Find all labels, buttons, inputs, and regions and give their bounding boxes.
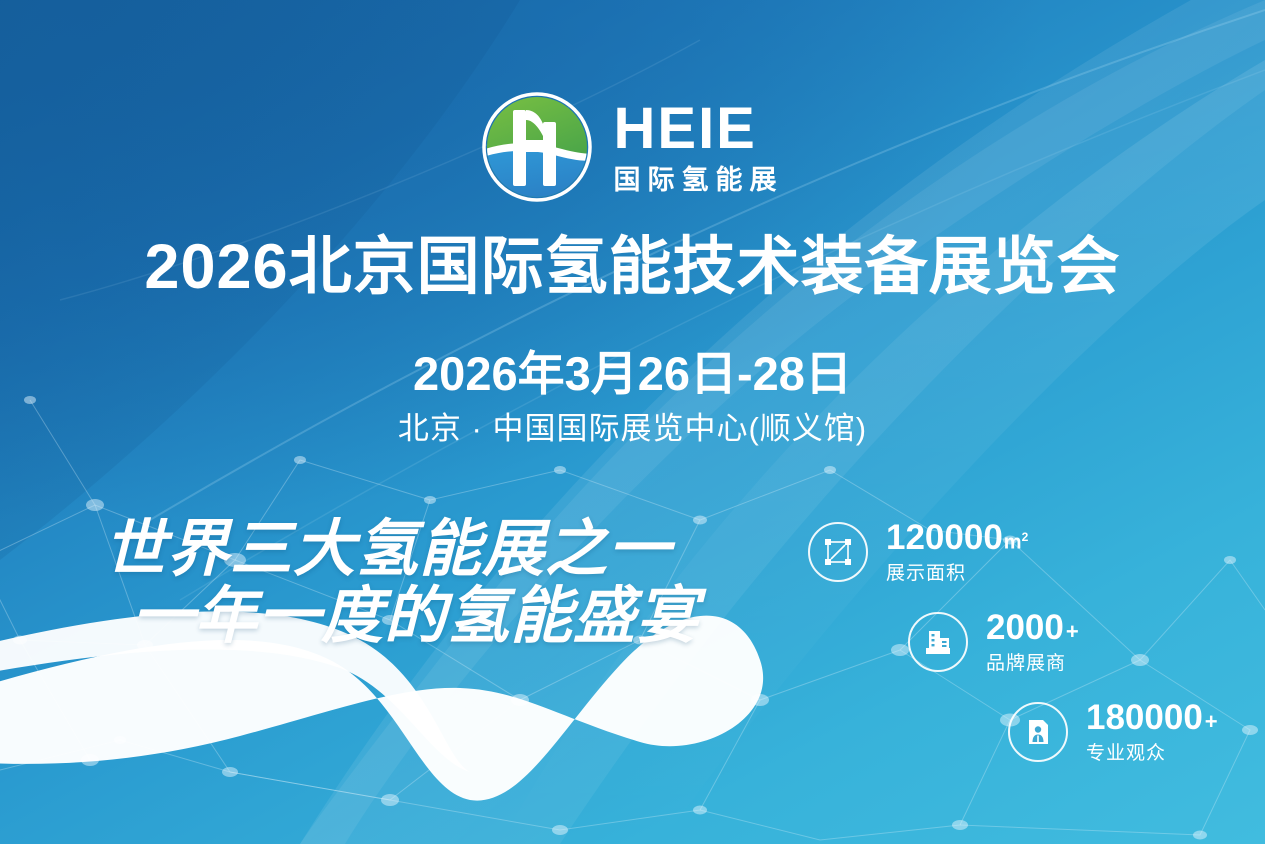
- logo-lockup: HEIE 国际氢能展: [0, 92, 1265, 202]
- event-date: 2026年3月26日-28日: [0, 348, 1265, 400]
- stat-label: 品牌展商: [986, 654, 1079, 673]
- slogan-block: 世界三大氢能展之一 一年一度的氢能盛宴: [104, 518, 699, 648]
- stat-item: 120000m2 展示面积: [808, 520, 1028, 583]
- stat-value-row: 2000+: [986, 610, 1079, 645]
- stat-plus: +: [1066, 621, 1079, 643]
- stats-group: 120000m2 展示面积 2000+: [808, 520, 1248, 810]
- brand-wordmark: HEIE: [614, 100, 757, 158]
- heie-circle-logo-icon: [482, 92, 592, 202]
- stat-item: 180000+ 专业观众: [1008, 700, 1218, 763]
- event-banner: HEIE 国际氢能展 2026北京国际氢能技术装备展览会 2026年3月26日-…: [0, 0, 1265, 844]
- stat-label: 展示面积: [886, 564, 1028, 583]
- stat-value: 120000: [886, 520, 1003, 555]
- stat-text: 180000+ 专业观众: [1086, 700, 1218, 763]
- stat-plus: +: [1205, 711, 1218, 733]
- stat-value: 2000: [986, 610, 1064, 645]
- slogan-line-1: 世界三大氢能展之一: [104, 518, 699, 581]
- event-headline: 2026北京国际氢能技术装备展览会: [0, 233, 1265, 301]
- area-measure-icon: [808, 522, 868, 582]
- stat-label: 专业观众: [1086, 744, 1218, 763]
- brand-sub-wordmark: 国际氢能展: [614, 167, 784, 194]
- building-icon: [908, 612, 968, 672]
- stat-text: 2000+ 品牌展商: [986, 610, 1079, 673]
- logo-text-block: HEIE 国际氢能展: [614, 100, 784, 194]
- stat-value: 180000: [1086, 700, 1203, 735]
- stat-value-row: 180000+: [1086, 700, 1218, 735]
- stat-value-row: 120000m2: [886, 520, 1028, 555]
- slogan-line-2: 一年一度的氢能盛宴: [132, 585, 699, 648]
- stat-unit-sup: 2: [1022, 530, 1029, 544]
- stat-unit: m2: [1004, 531, 1028, 553]
- stat-item: 2000+ 品牌展商: [908, 610, 1079, 673]
- visitor-badge-icon: [1008, 702, 1068, 762]
- event-venue: 北京 · 中国国际展览中心(顺义馆): [0, 412, 1265, 446]
- stat-text: 120000m2 展示面积: [886, 520, 1028, 583]
